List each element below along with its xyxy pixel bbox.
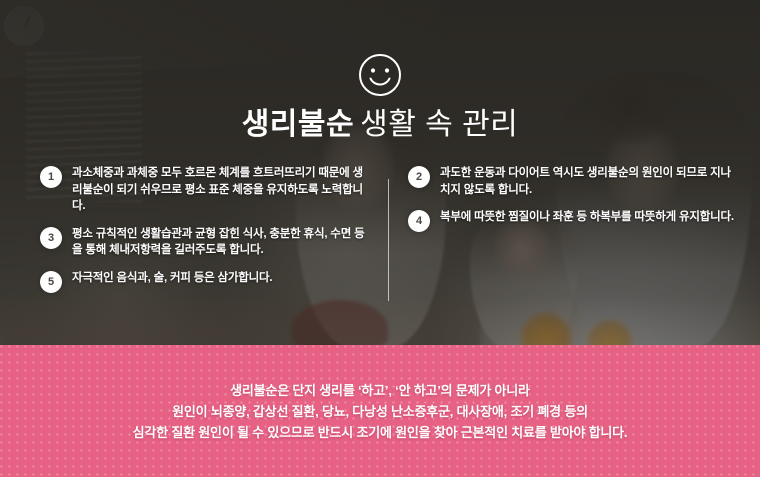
tips-section: 1 과소체중과 과체중 모두 호르몬 체계를 흐트러뜨리기 때문에 생리불순이 … [0, 165, 760, 325]
page-title: 생리불순생활 속 관리 [0, 106, 760, 144]
column-divider [388, 179, 389, 301]
tip-text: 과소체중과 과체중 모두 호르몬 체계를 흐트러뜨리기 때문에 생리불순이 되기… [72, 165, 370, 215]
tip-text: 평소 규칙적인 생활습관과 균형 잡힌 식사, 충분한 휴식, 수면 등을 통해… [72, 226, 370, 259]
tips-column-right: 2 과도한 운동과 다이어트 역시도 생리불순의 원인이 되므로 지나치지 않도… [408, 165, 738, 243]
tip-text: 과도한 운동과 다이어트 역시도 생리불순의 원인이 되므로 지나치지 않도록 … [440, 165, 738, 198]
smiley-face-icon [357, 52, 403, 98]
tip-item: 1 과소체중과 과체중 모두 호르몬 체계를 흐트러뜨리기 때문에 생리불순이 … [40, 165, 370, 215]
tip-number-badge: 2 [408, 166, 430, 188]
tip-number-badge: 3 [40, 227, 62, 249]
infographic-root: 생리불순생활 속 관리 1 과소체중과 과체중 모두 호르몬 체계를 흐트러뜨리… [0, 0, 760, 477]
footer-line-2: 원인이 뇌종양, 갑상선 질환, 당뇨, 다낭성 난소증후군, 대사장애, 조기… [133, 401, 628, 422]
footer-line-1: 생리불순은 단지 생리를 ‘하고’, ‘안 하고’의 문제가 아니라 [133, 380, 628, 401]
footer-line-3: 심각한 질환 원인이 될 수 있으므로 반드시 조기에 원인을 찾아 근본적인 … [133, 422, 628, 443]
tip-text: 복부에 따뜻한 찜질이나 좌훈 등 하복부를 따뜻하게 유지합니다. [440, 209, 734, 226]
page-title-light: 생활 속 관리 [360, 108, 518, 141]
footer-banner: 생리불순은 단지 생리를 ‘하고’, ‘안 하고’의 문제가 아니라 원인이 뇌… [0, 345, 760, 477]
tip-item: 2 과도한 운동과 다이어트 역시도 생리불순의 원인이 되므로 지나치지 않도… [408, 165, 738, 198]
tip-item: 5 자극적인 음식과, 술, 커피 등은 삼가합니다. [40, 270, 370, 293]
tip-number-badge: 5 [40, 271, 62, 293]
tip-item: 4 복부에 따뜻한 찜질이나 좌훈 등 하복부를 따뜻하게 유지합니다. [408, 209, 738, 232]
tips-column-left: 1 과소체중과 과체중 모두 호르몬 체계를 흐트러뜨리기 때문에 생리불순이 … [40, 165, 370, 304]
tip-number-badge: 4 [408, 210, 430, 232]
header: 생리불순생활 속 관리 [0, 52, 760, 144]
page-title-strong: 생리불순 [242, 108, 354, 141]
tip-item: 3 평소 규칙적인 생활습관과 균형 잡힌 식사, 충분한 휴식, 수면 등을 … [40, 226, 370, 259]
tip-text: 자극적인 음식과, 술, 커피 등은 삼가합니다. [72, 270, 272, 287]
footer-text-block: 생리불순은 단지 생리를 ‘하고’, ‘안 하고’의 문제가 아니라 원인이 뇌… [133, 380, 628, 443]
tip-number-badge: 1 [40, 166, 62, 188]
